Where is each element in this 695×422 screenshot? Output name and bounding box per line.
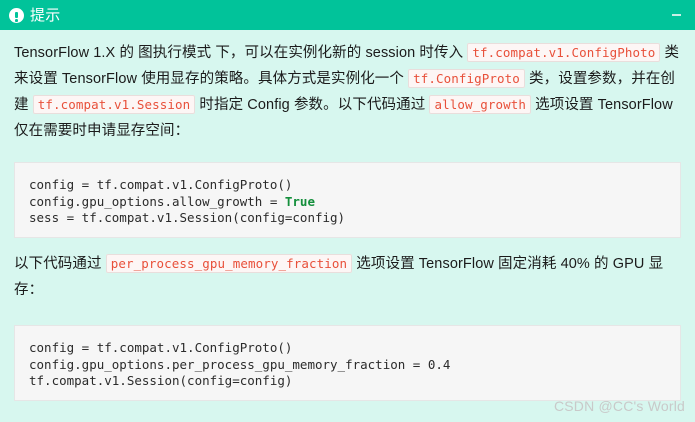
text-run: 时指定 Config 参数。以下代码通过 (195, 97, 429, 113)
text-run: 以下代码通过 (14, 256, 106, 272)
code-line-prefix: config.gpu_options.allow_growth = (29, 194, 285, 209)
code-line: config = tf.compat.v1.ConfigProto() (29, 177, 292, 192)
code-keyword-true: True (285, 194, 315, 209)
paragraph-1: TensorFlow 1.X 的 图执行模式 下，可以在实例化新的 sessio… (14, 40, 681, 144)
code-line: config.gpu_options.per_process_gpu_memor… (29, 357, 450, 372)
callout-title: 提示 (30, 8, 61, 23)
info-circle-icon (9, 8, 24, 23)
code-block-content: config = tf.compat.v1.ConfigProto() conf… (29, 177, 666, 227)
inline-code-configphoto: tf.compat.v1.ConfigPhoto (467, 43, 660, 62)
tip-callout-panel: 提示 TensorFlow 1.X 的 图执行模式 下，可以在实例化新的 ses… (0, 0, 695, 422)
inline-code-allow-growth: allow_growth (429, 95, 531, 114)
callout-header: 提示 (0, 0, 695, 30)
code-line: tf.compat.v1.Session(config=config) (29, 373, 292, 388)
exclamation-mark-glyph (15, 12, 18, 18)
callout-body: TensorFlow 1.X 的 图执行模式 下，可以在实例化新的 sessio… (0, 30, 695, 422)
code-block-memory-fraction[interactable]: config = tf.compat.v1.ConfigProto() conf… (14, 325, 681, 401)
code-block-content: config = tf.compat.v1.ConfigProto() conf… (29, 340, 666, 390)
inline-code-configproto: tf.ConfigProto (408, 69, 525, 88)
inline-code-memory-fraction: per_process_gpu_memory_fraction (106, 254, 352, 273)
text-run: TensorFlow 1.X 的 图执行模式 下，可以在实例化新的 sessio… (14, 45, 467, 61)
collapse-button[interactable] (665, 0, 687, 30)
minus-icon (672, 14, 681, 16)
code-block-allow-growth[interactable]: config = tf.compat.v1.ConfigProto() conf… (14, 162, 681, 238)
paragraph-2: 以下代码通过 per_process_gpu_memory_fraction 选… (14, 251, 681, 303)
callout-header-left: 提示 (9, 8, 61, 23)
code-line: sess = tf.compat.v1.Session(config=confi… (29, 210, 345, 225)
code-line: config = tf.compat.v1.ConfigProto() (29, 340, 292, 355)
inline-code-session: tf.compat.v1.Session (33, 95, 196, 114)
